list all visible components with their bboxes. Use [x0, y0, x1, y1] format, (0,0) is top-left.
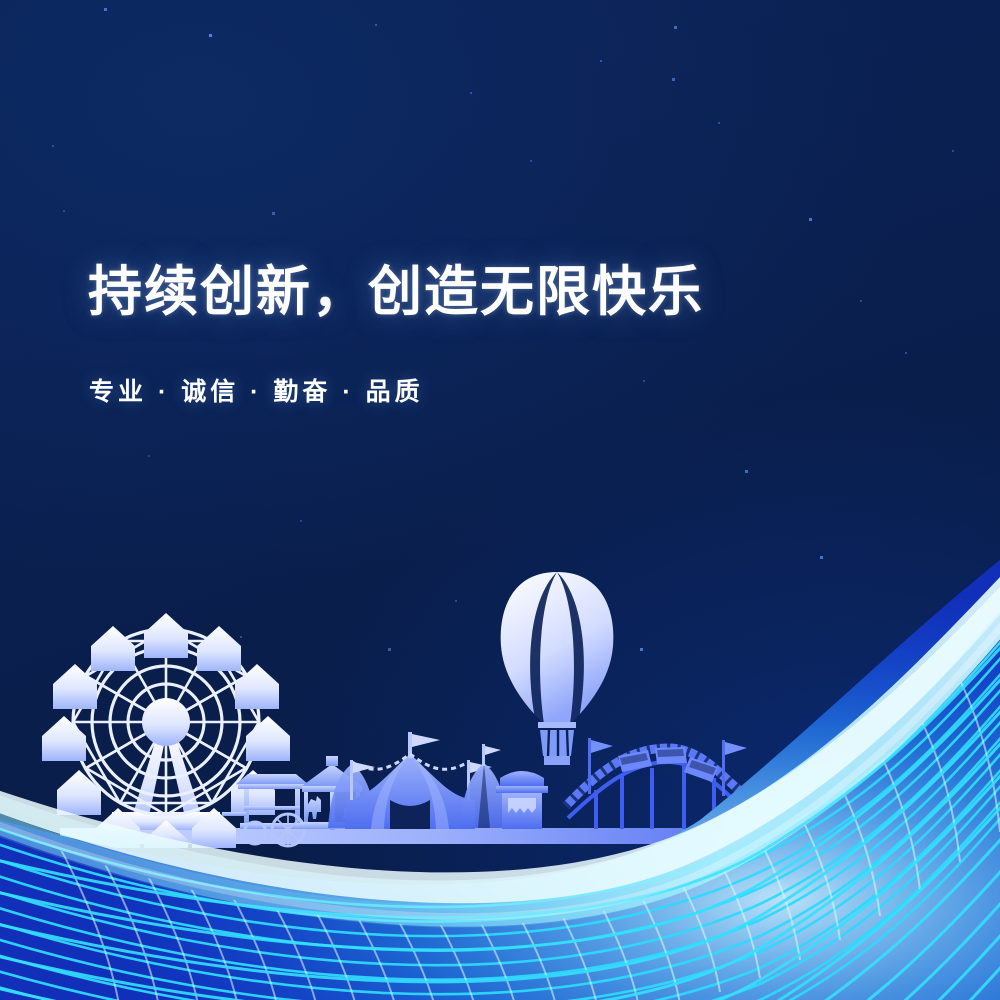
page-subtitle: 专业 · 诚信 · 勤奋 · 品质 — [89, 372, 424, 408]
page-title: 持续创新，创造无限快乐 — [88, 263, 704, 322]
banner-canvas: 持续创新，创造无限快乐 专业 · 诚信 · 勤奋 · 品质 — [0, 0, 1000, 1000]
neon-wave-mesh — [0, 0, 1000, 1000]
